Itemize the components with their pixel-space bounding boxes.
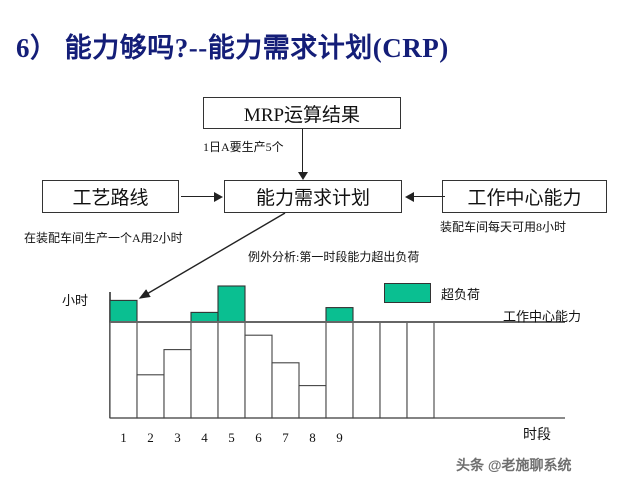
- connector-mrp-to-crp: [302, 129, 303, 172]
- watermark: 头条 @老施聊系统: [456, 455, 572, 475]
- connector-routing-to-crp: [181, 196, 216, 197]
- flow-box-mrp-label: MRP运算结果: [244, 100, 360, 127]
- flow-box-work-center-capacity-label: 工作中心能力: [467, 183, 581, 210]
- flow-box-crp: 能力需求计划: [224, 180, 402, 213]
- arrow-left-icon: [405, 192, 414, 202]
- chart-x-tick-9: 9: [326, 430, 353, 446]
- flow-box-mrp: MRP运算结果: [203, 97, 401, 129]
- flow-box-work-center-capacity: 工作中心能力: [442, 180, 607, 213]
- slide-canvas: 6） 能力够吗?--能力需求计划(CRP) MRP运算结果 工艺路线 能力需求计…: [0, 0, 640, 480]
- chart-x-tick-3: 3: [164, 430, 191, 446]
- flow-box-routing-label: 工艺路线: [72, 183, 148, 210]
- chart-x-axis-label: 时段: [523, 424, 551, 444]
- connector-capacity-to-crp: [412, 196, 445, 197]
- chart-y-axis-label: 小时: [62, 290, 88, 309]
- chart-x-tick-6: 6: [245, 430, 272, 446]
- flow-box-crp-label: 能力需求计划: [256, 183, 370, 210]
- page-title: 6） 能力够吗?--能力需求计划(CRP): [16, 26, 449, 65]
- legend-overload-swatch: [384, 283, 431, 303]
- legend-capacity-label: 工作中心能力: [503, 306, 581, 325]
- chart-x-tick-1: 1: [110, 430, 137, 446]
- note-available-hours: 装配车间每天可用8小时: [440, 218, 566, 235]
- chart-x-tick-5: 5: [218, 430, 245, 446]
- note-mrp-demand: 1日A要生产5个: [203, 138, 284, 155]
- chart-x-tick-8: 8: [299, 430, 326, 446]
- note-routing-time: 在装配车间生产一个A用2小时: [24, 229, 183, 246]
- arrow-right-icon: [214, 192, 223, 202]
- flow-box-routing: 工艺路线: [42, 180, 179, 213]
- arrow-down-icon: [298, 172, 308, 180]
- chart-x-tick-4: 4: [191, 430, 218, 446]
- legend-overload-label: 超负荷: [441, 284, 480, 303]
- chart-x-tick-7: 7: [272, 430, 299, 446]
- note-exception-analysis: 例外分析:第一时段能力超出负荷: [248, 248, 419, 265]
- chart-x-tick-2: 2: [137, 430, 164, 446]
